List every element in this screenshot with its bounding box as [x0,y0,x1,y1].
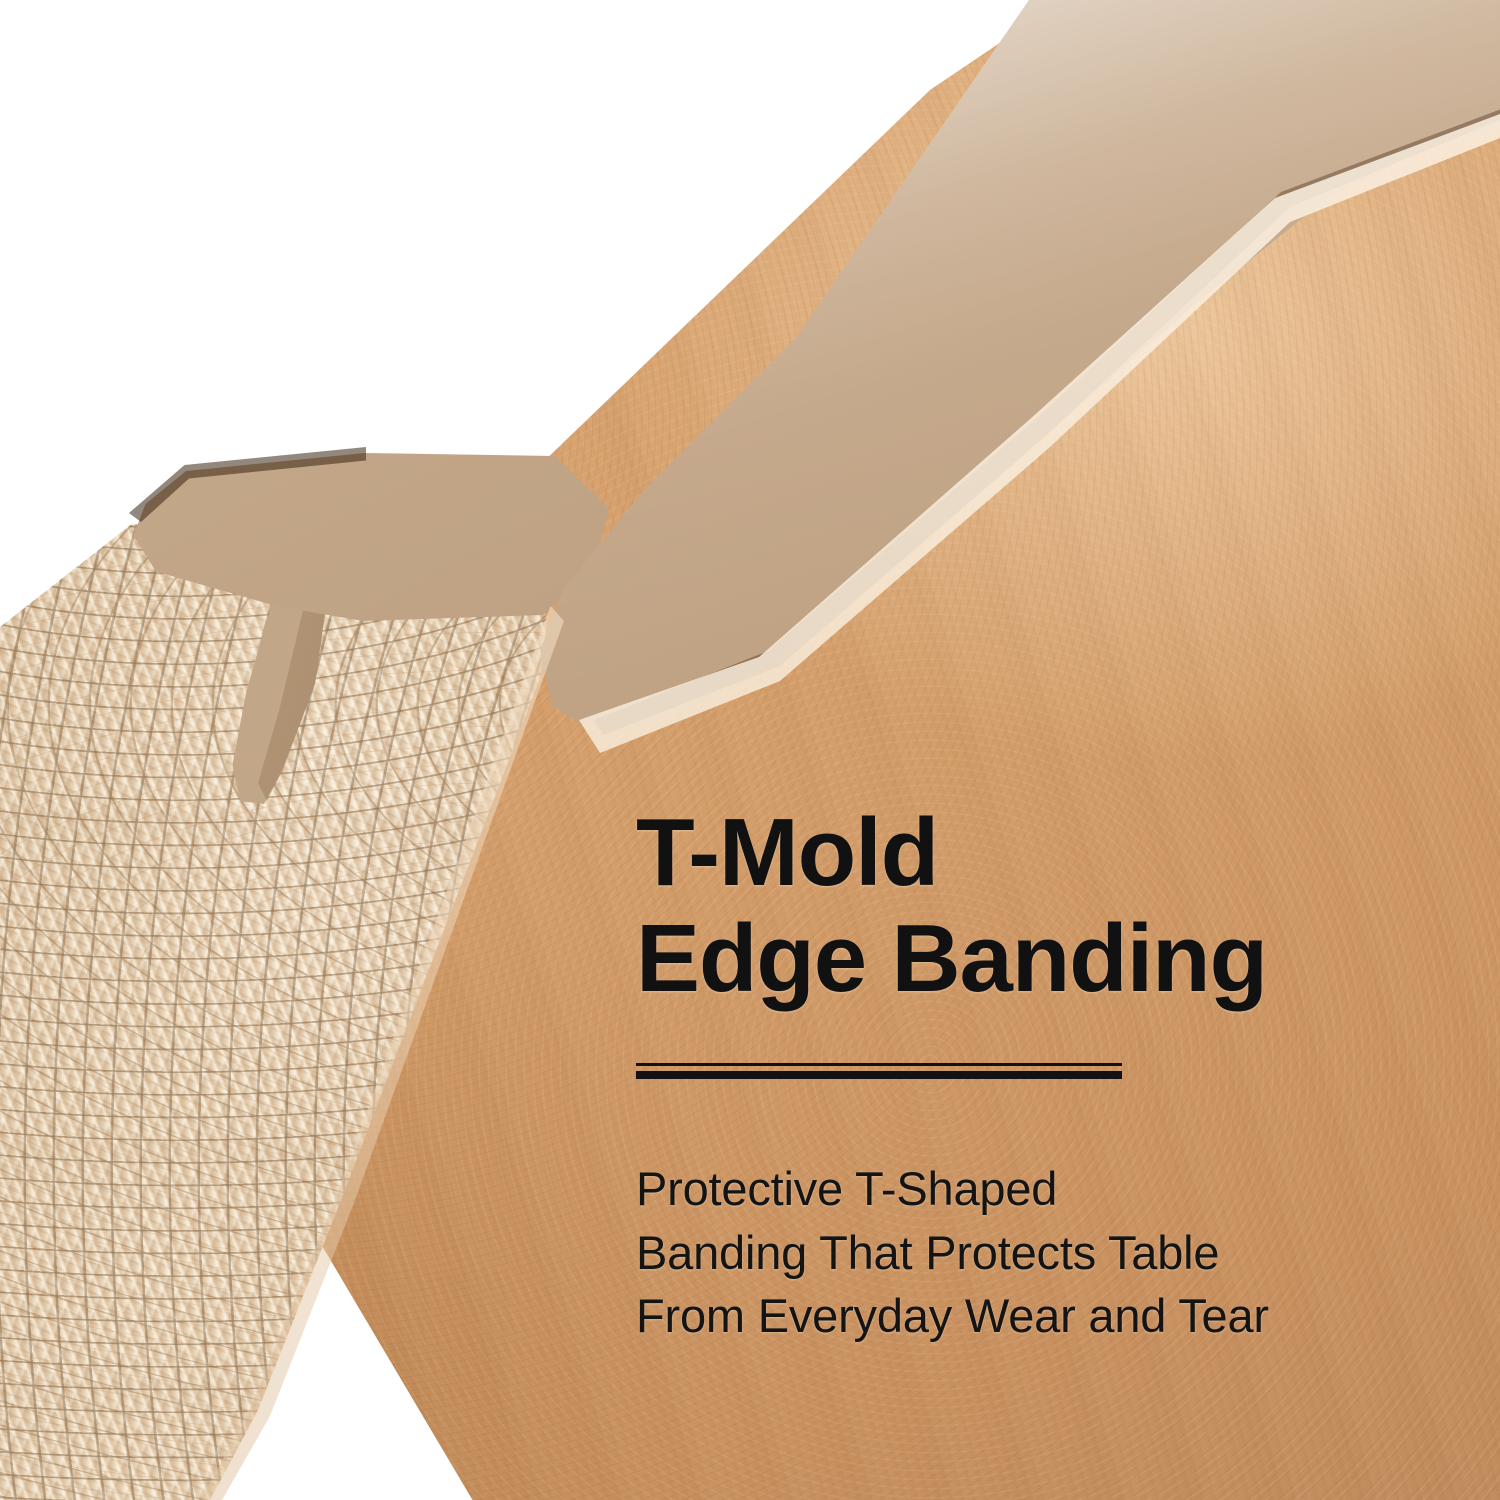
page-title: T-Mold Edge Banding [636,800,1416,1011]
product-feature-image: T-Mold Edge Banding Protective T-Shaped … [0,0,1500,1500]
divider [636,1063,1122,1079]
divider-rule-thick [636,1071,1122,1079]
feature-description: Protective T-Shaped Banding That Protect… [636,1157,1416,1347]
marketing-copy-block: T-Mold Edge Banding Protective T-Shaped … [636,800,1416,1348]
